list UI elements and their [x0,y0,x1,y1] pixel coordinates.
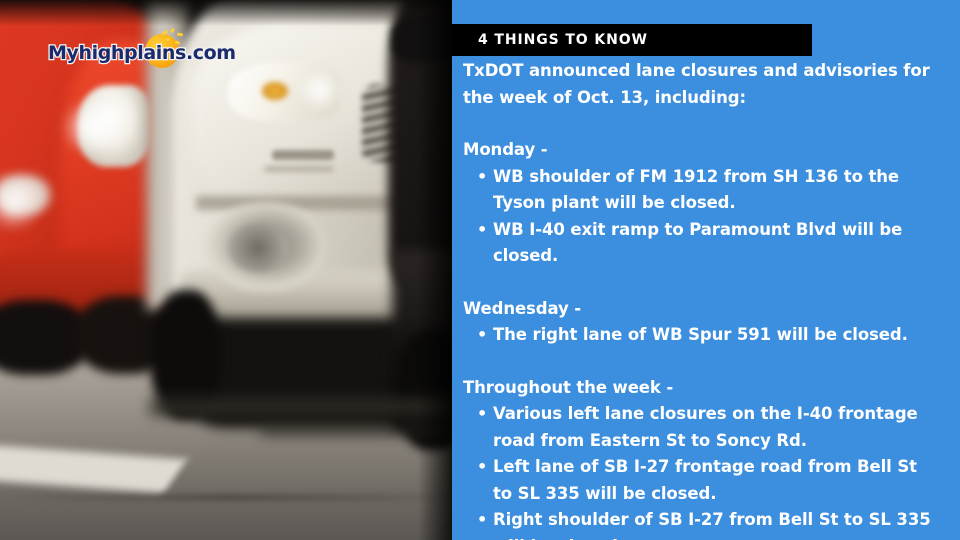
road-crack [0,495,452,500]
road-shadow-upper [150,398,452,416]
section-label-wednesday: Wednesday - [463,296,936,323]
white-suv-headlight-glow [296,70,344,110]
red-car-headlight-glow [60,100,120,155]
news-graphic: Myhighplains.com 4 THINGS TO KNOW TxDOT … [0,0,960,540]
section-label-throughout-week: Throughout the week - [463,375,936,402]
list-item: Right shoulder of SB I-27 from Bell St t… [463,507,936,540]
site-logo[interactable]: Myhighplains.com [48,38,236,68]
header-bar: 4 THINGS TO KNOW [452,24,812,56]
list-item: Various left lane closures on the I-40 f… [463,401,936,454]
list-item: Left lane of SB I-27 frontage road from … [463,454,936,507]
intro-line-1: TxDOT announced lane closures and adviso… [463,58,936,85]
spacer-1 [463,111,936,137]
section-list-monday: WB shoulder of FM 1912 from SH 136 to th… [463,164,936,270]
photo-right-vignette [418,0,452,540]
section-list-wednesday: The right lane of WB Spur 591 will be cl… [463,322,936,349]
white-suv-fog-lamp-inner [228,224,288,272]
section-label-monday: Monday - [463,137,936,164]
header-title: 4 THINGS TO KNOW [452,32,648,48]
photo-top-vignette [0,0,452,26]
site-logo-text: Myhighplains.com [48,42,236,64]
section-list-throughout-week: Various left lane closures on the I-40 f… [463,401,936,540]
list-item: WB shoulder of FM 1912 from SH 136 to th… [463,164,936,217]
list-item: The right lane of WB Spur 591 will be cl… [463,322,936,349]
spacer-2 [463,270,936,296]
white-suv-badge-lower [264,166,334,172]
list-item: WB I-40 exit ramp to Paramount Blvd will… [463,217,936,270]
left-highlight-glow [0,175,46,229]
intro-line-2: the week of Oct. 13, including: [463,85,936,112]
panel-content: TxDOT announced lane closures and adviso… [452,58,960,540]
white-suv-turn-signal [262,82,288,100]
white-suv-badge [272,150,334,160]
spacer-3 [463,349,936,375]
traffic-photo [0,0,452,540]
